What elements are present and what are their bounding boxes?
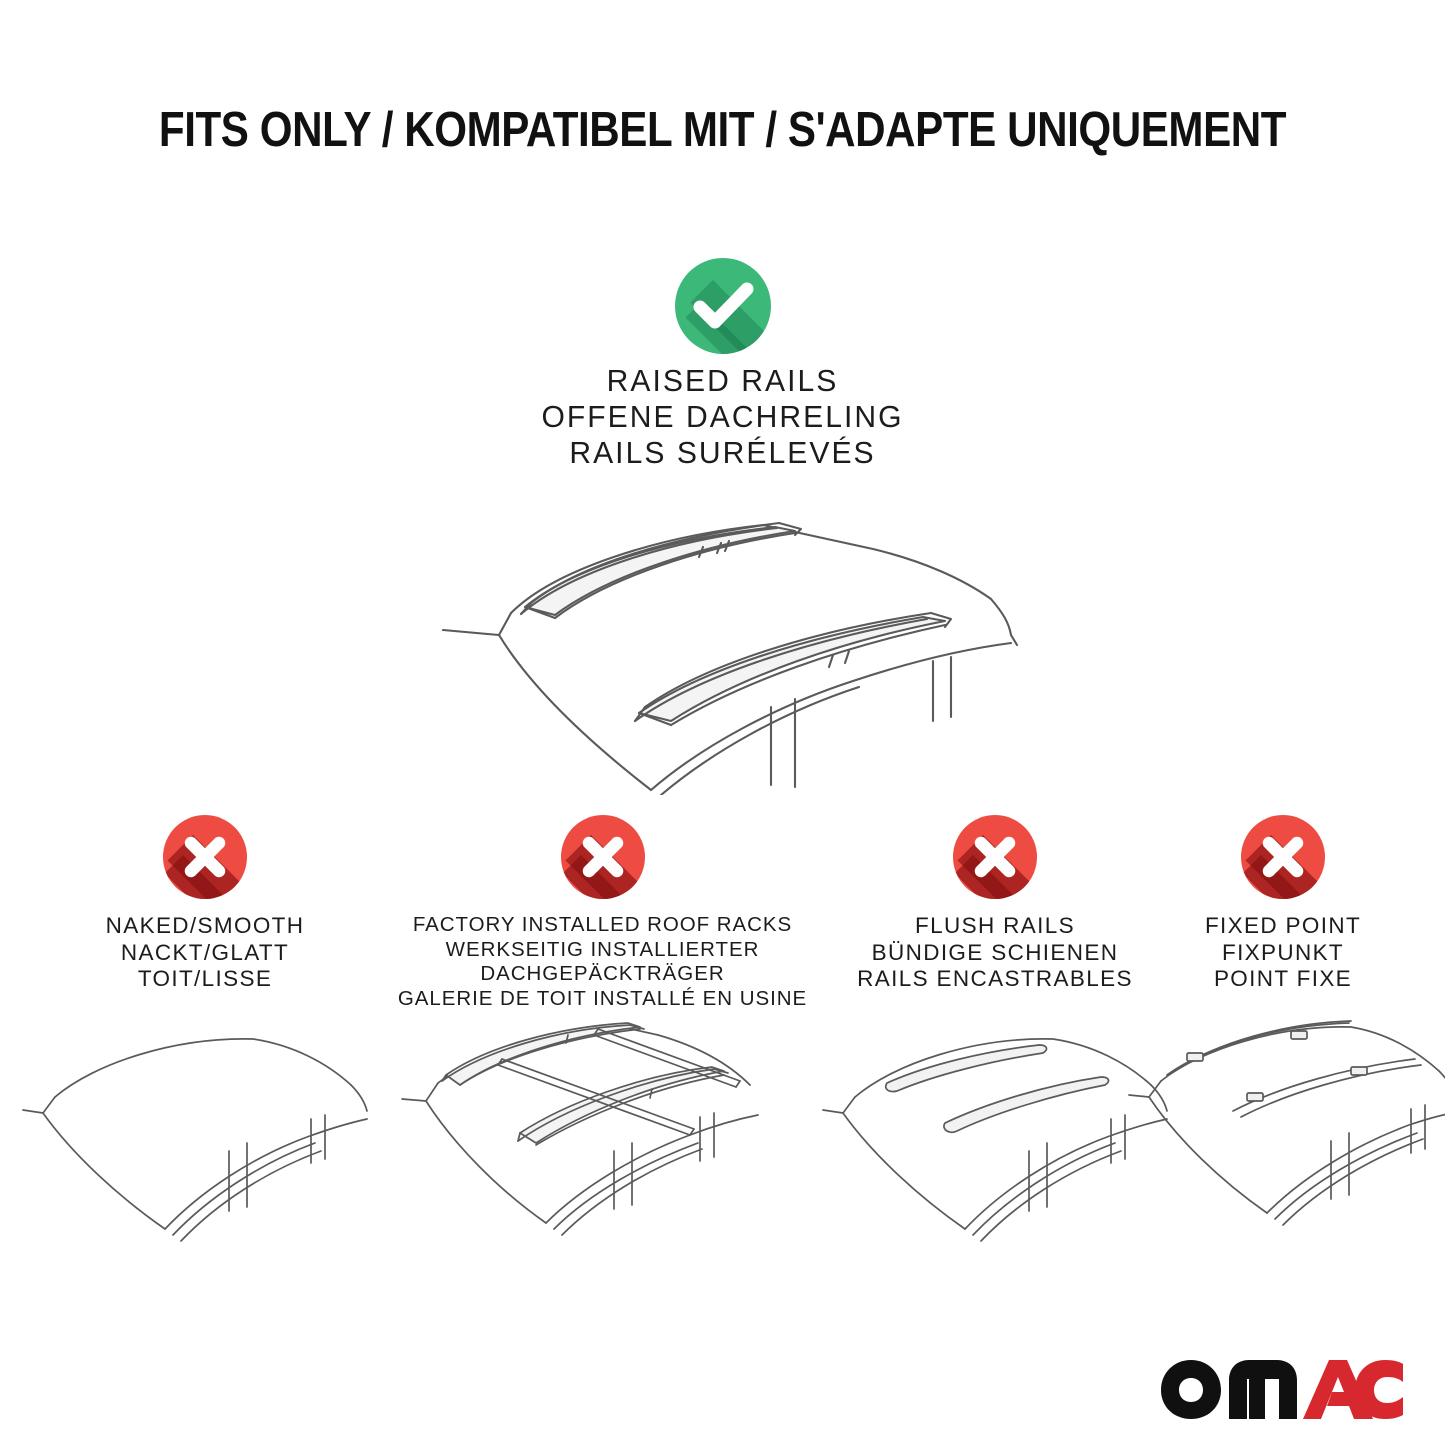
incompatible-labels-naked-smooth: NAKED/SMOOTH NACKT/GLATT TOIT/LISSE (15, 913, 395, 993)
label-line-de-1: WERKSEITIG INSTALLIERTER (390, 938, 815, 963)
incompatible-labels-flush-rails: FLUSH RAILS BÜNDIGE SCHIENEN RAILS ENCAS… (815, 913, 1175, 993)
incompatible-labels-fixed-point: FIXED POINT FIXPUNKT POINT FIXE (1133, 913, 1433, 993)
label-line-fr: GALERIE DE TOIT INSTALLÉ EN USINE (390, 987, 815, 1012)
incompatible-column-naked-smooth: NAKED/SMOOTH NACKT/GLATT TOIT/LISSE (15, 815, 395, 993)
car-roof-flush-rails-illustration (815, 1015, 1175, 1260)
logo-letter-o (1161, 1360, 1221, 1419)
infographic-page: FITS ONLY / KOMPATIBEL MIT / S'ADAPTE UN… (0, 0, 1445, 1445)
incompatible-column-flush-rails: FLUSH RAILS BÜNDIGE SCHIENEN RAILS ENCAS… (815, 815, 1175, 993)
incompatible-column-fixed-point: FIXED POINT FIXPUNKT POINT FIXE (1133, 815, 1433, 993)
incompatible-labels-factory-racks: FACTORY INSTALLED ROOF RACKS WERKSEITIG … (390, 913, 815, 1011)
car-roof-fixed-point-illustration (1123, 1015, 1423, 1260)
label-line-en: FACTORY INSTALLED ROOF RACKS (390, 913, 815, 938)
label-line-de: FIXPUNKT (1133, 940, 1433, 967)
label-line-de: NACKT/GLATT (15, 940, 395, 967)
incompatible-section: NAKED/SMOOTH NACKT/GLATT TOIT/LISSE (0, 0, 1445, 1445)
label-line-de-2: DACHGEPÄCKTRÄGER (390, 962, 815, 987)
car-roof-naked-smooth-illustration (15, 1015, 395, 1260)
x-circle-icon (953, 815, 1037, 899)
label-line-fr: RAILS ENCASTRABLES (815, 966, 1175, 993)
x-mark-glyph (953, 815, 1037, 899)
label-line-fr: POINT FIXE (1133, 966, 1433, 993)
logo-letter-m (1229, 1360, 1297, 1419)
incompatible-column-factory-racks: FACTORY INSTALLED ROOF RACKS WERKSEITIG … (390, 815, 815, 1011)
label-line-de: BÜNDIGE SCHIENEN (815, 940, 1175, 967)
label-line-en: NAKED/SMOOTH (15, 913, 395, 940)
x-mark-glyph (1241, 815, 1325, 899)
x-circle-icon (1241, 815, 1325, 899)
label-line-en: FIXED POINT (1133, 913, 1433, 940)
label-line-en: FLUSH RAILS (815, 913, 1175, 940)
x-mark-glyph (561, 815, 645, 899)
omac-logo (1157, 1358, 1407, 1420)
car-roof-factory-roof-racks-illustration (390, 1013, 815, 1263)
x-mark-glyph (163, 815, 247, 899)
omac-wordmark (1157, 1358, 1407, 1420)
label-line-fr: TOIT/LISSE (15, 966, 395, 993)
x-circle-icon (561, 815, 645, 899)
x-circle-icon (163, 815, 247, 899)
